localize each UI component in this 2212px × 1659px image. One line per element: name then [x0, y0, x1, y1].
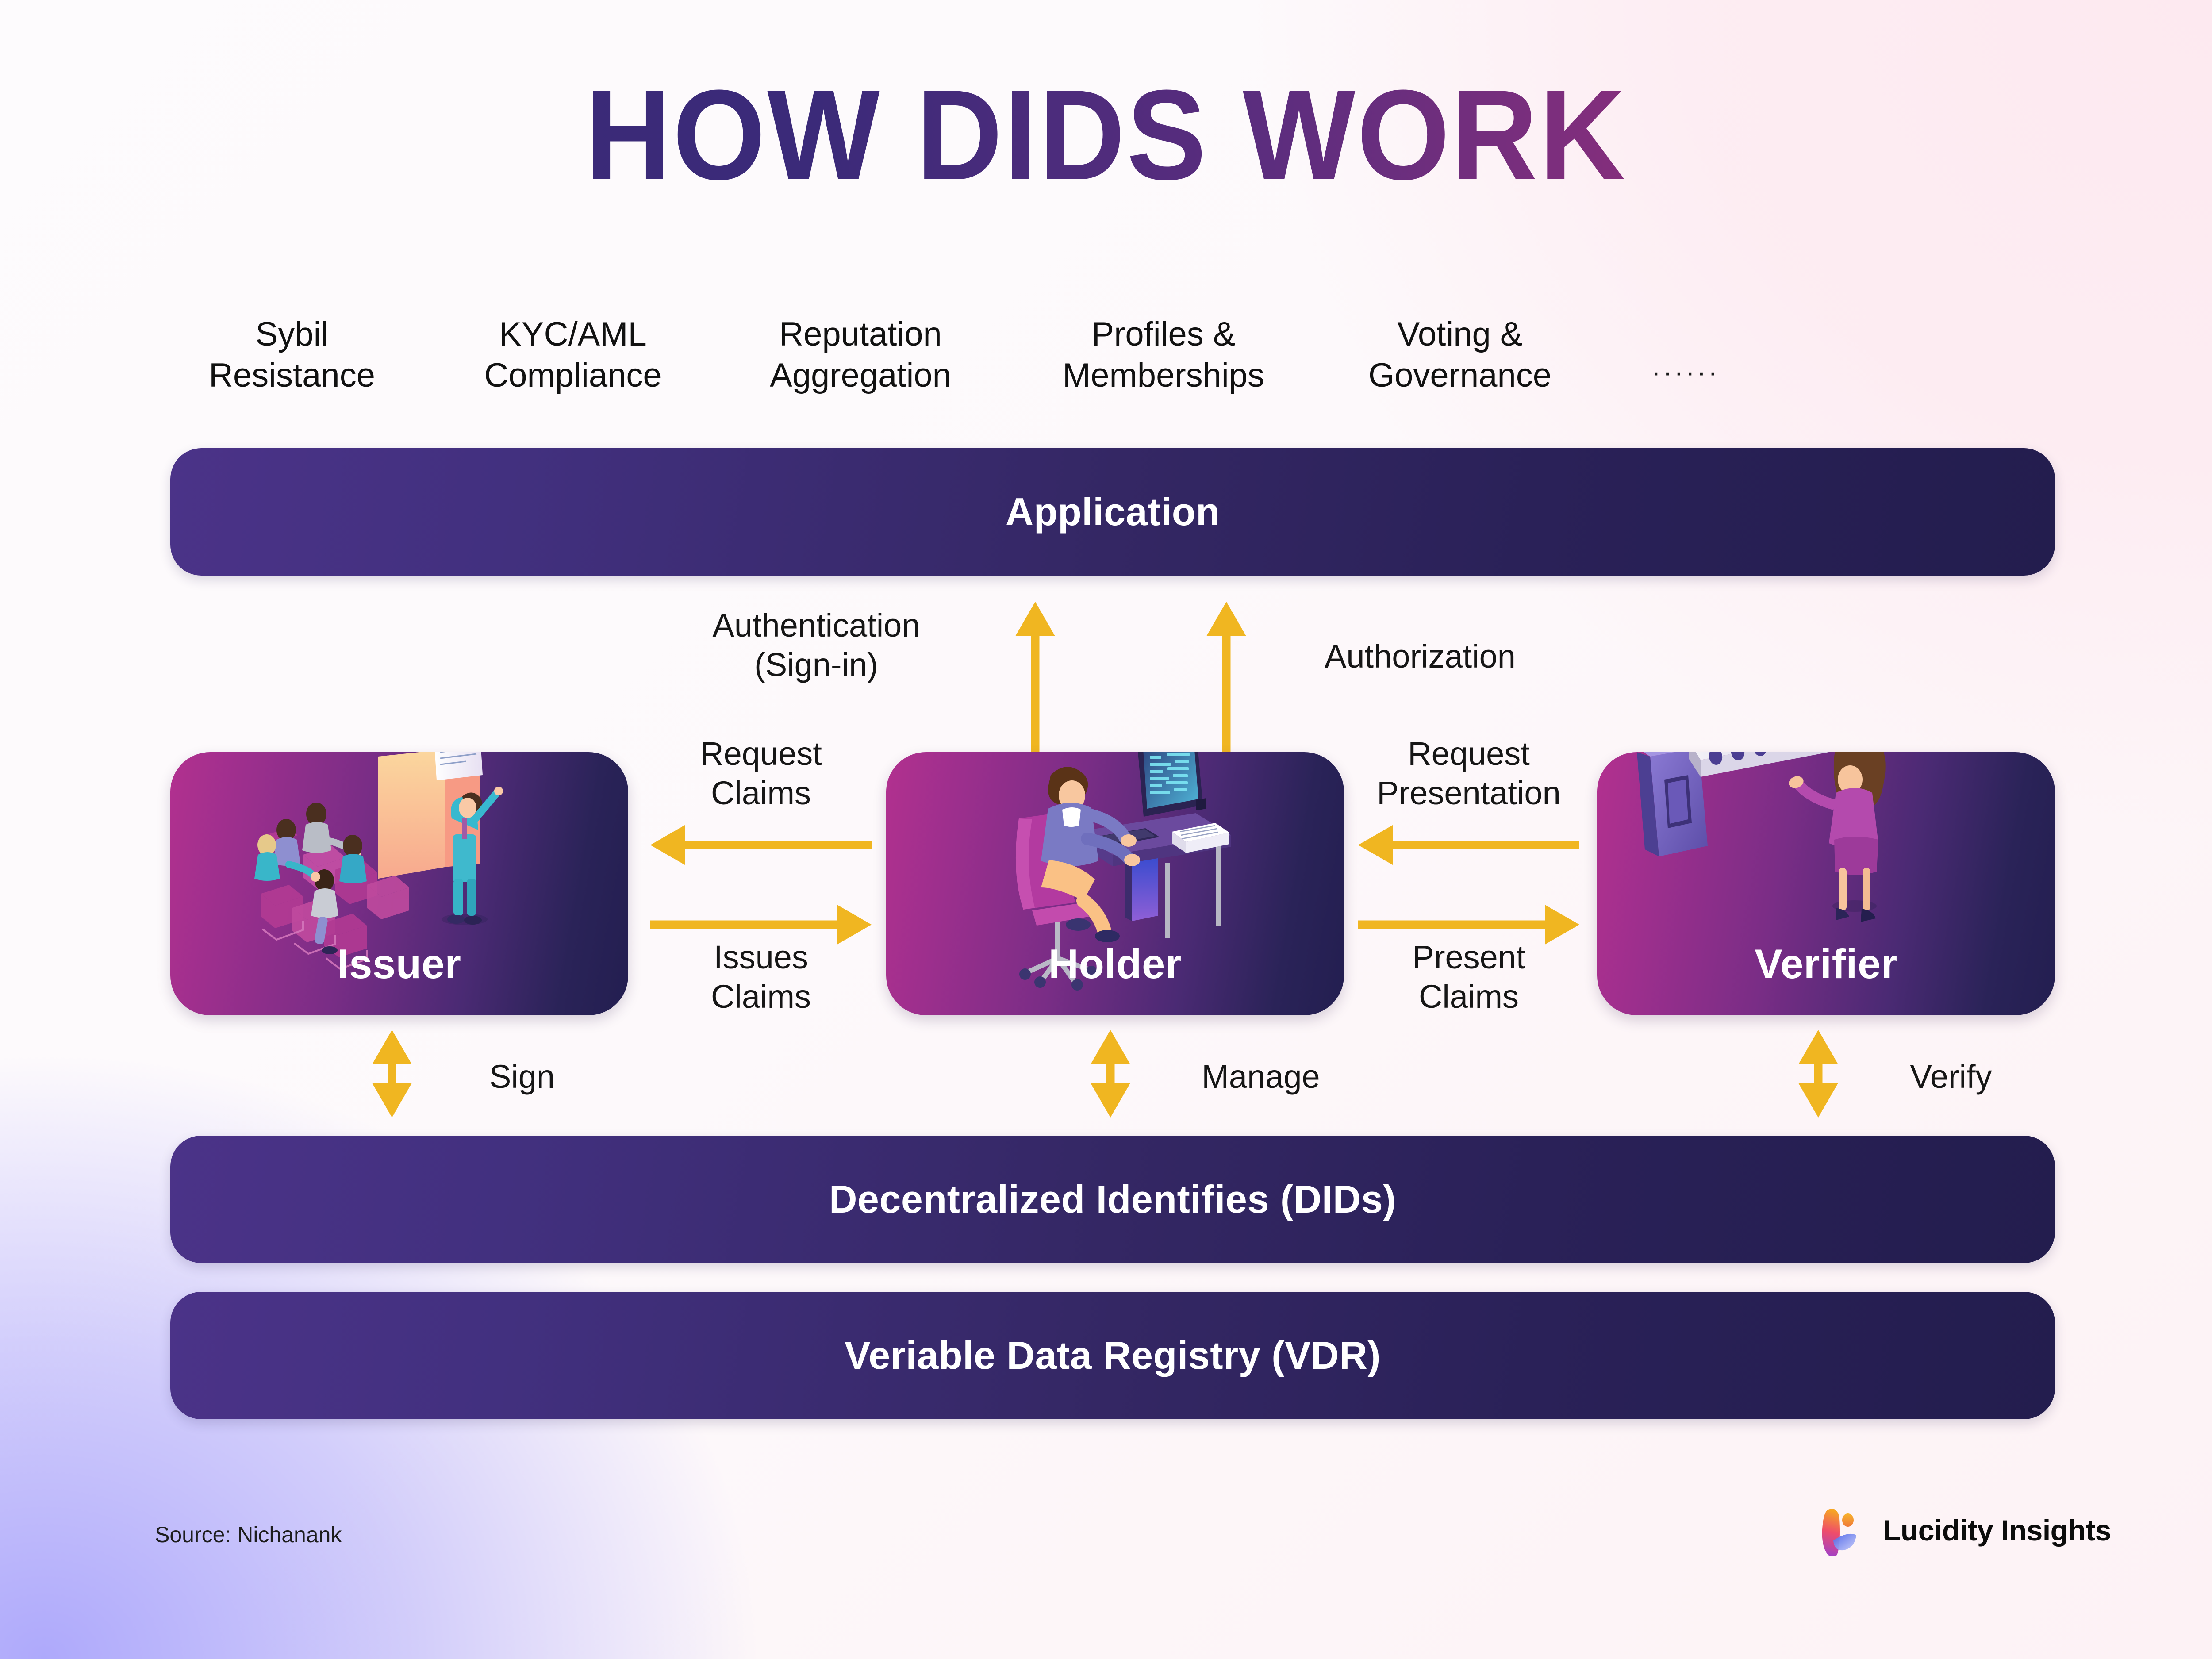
use-case-profiles: Profiles & Memberships: [1013, 314, 1314, 396]
use-case-reputation: Reputation Aggregation: [708, 314, 1013, 396]
flow-label-issues-claims: Issues Claims: [628, 938, 894, 1017]
brand-lockup: Lucidity Insights: [1816, 1504, 2111, 1556]
flow-label-verify: Verify: [1858, 1057, 2044, 1097]
arrow-shaft: [650, 921, 841, 929]
flow-label-authorization: Authorization: [1265, 637, 1575, 676]
arrow-request-claims-left: [650, 823, 872, 867]
lucidity-insights-logo-icon: [1816, 1504, 1868, 1556]
arrow-request-presentation-left: [1358, 823, 1579, 867]
role-card-verifier[interactable]: Verifier: [1597, 752, 2055, 1015]
use-case-kyc-aml: KYC/AML Compliance: [438, 314, 708, 396]
use-case-row: Sybil Resistance KYC/AML Compliance Repu…: [146, 314, 2066, 396]
use-case-sybil-resistance: Sybil Resistance: [146, 314, 438, 396]
flow-label-manage: Manage: [1155, 1057, 1367, 1097]
arrowhead-up-icon: [1015, 602, 1055, 636]
layer-dids-label: Decentralized Identifies (DIDs): [829, 1177, 1396, 1222]
layer-dids: Decentralized Identifies (DIDs): [170, 1136, 2055, 1263]
source-attribution: Source: Nichanank: [155, 1522, 342, 1548]
layer-application: Application: [170, 448, 2055, 576]
layer-application-label: Application: [1006, 489, 1220, 534]
layer-vdr-label: Veriable Data Registry (VDR): [845, 1333, 1381, 1378]
role-card-issuer-label: Issuer: [170, 940, 628, 988]
role-card-verifier-label: Verifier: [1597, 940, 2055, 988]
use-case-voting: Voting & Governance: [1314, 314, 1606, 396]
arrow-shaft: [1389, 841, 1579, 849]
role-card-issuer[interactable]: Issuer: [170, 752, 628, 1015]
arrowhead-left-icon: [1358, 825, 1393, 865]
layer-vdr: Veriable Data Registry (VDR): [170, 1292, 2055, 1419]
arrow-shaft: [1358, 921, 1548, 929]
arrowhead-down-icon: [1091, 1083, 1130, 1118]
role-card-holder-label: Holder: [886, 940, 1344, 988]
arrow-verify-bidirectional: [1796, 1030, 1840, 1118]
arrowhead-down-icon: [1798, 1083, 1838, 1118]
page-title: HOW DIDS WORK: [77, 71, 2135, 199]
brand-name: Lucidity Insights: [1883, 1513, 2111, 1547]
use-case-ellipsis-icon: ······: [1606, 314, 1765, 388]
arrowhead-left-icon: [650, 825, 685, 865]
role-card-holder[interactable]: Holder: [886, 752, 1344, 1015]
flow-label-sign: Sign: [447, 1057, 597, 1097]
arrowhead-up-icon: [1206, 602, 1246, 636]
flow-label-authentication: Authentication (Sign-in): [641, 606, 991, 685]
arrow-manage-bidirectional: [1088, 1030, 1133, 1118]
arrow-shaft: [681, 841, 872, 849]
arrow-sign-bidirectional: [370, 1030, 414, 1118]
flow-label-request-claims: Request Claims: [628, 734, 894, 813]
flow-label-present-claims: Present Claims: [1323, 938, 1615, 1017]
arrowhead-down-icon: [372, 1083, 412, 1118]
infographic-canvas: HOW DIDS WORK Sybil Resistance KYC/AML C…: [0, 0, 2212, 1659]
flow-label-request-presentation: Request Presentation: [1318, 734, 1619, 813]
